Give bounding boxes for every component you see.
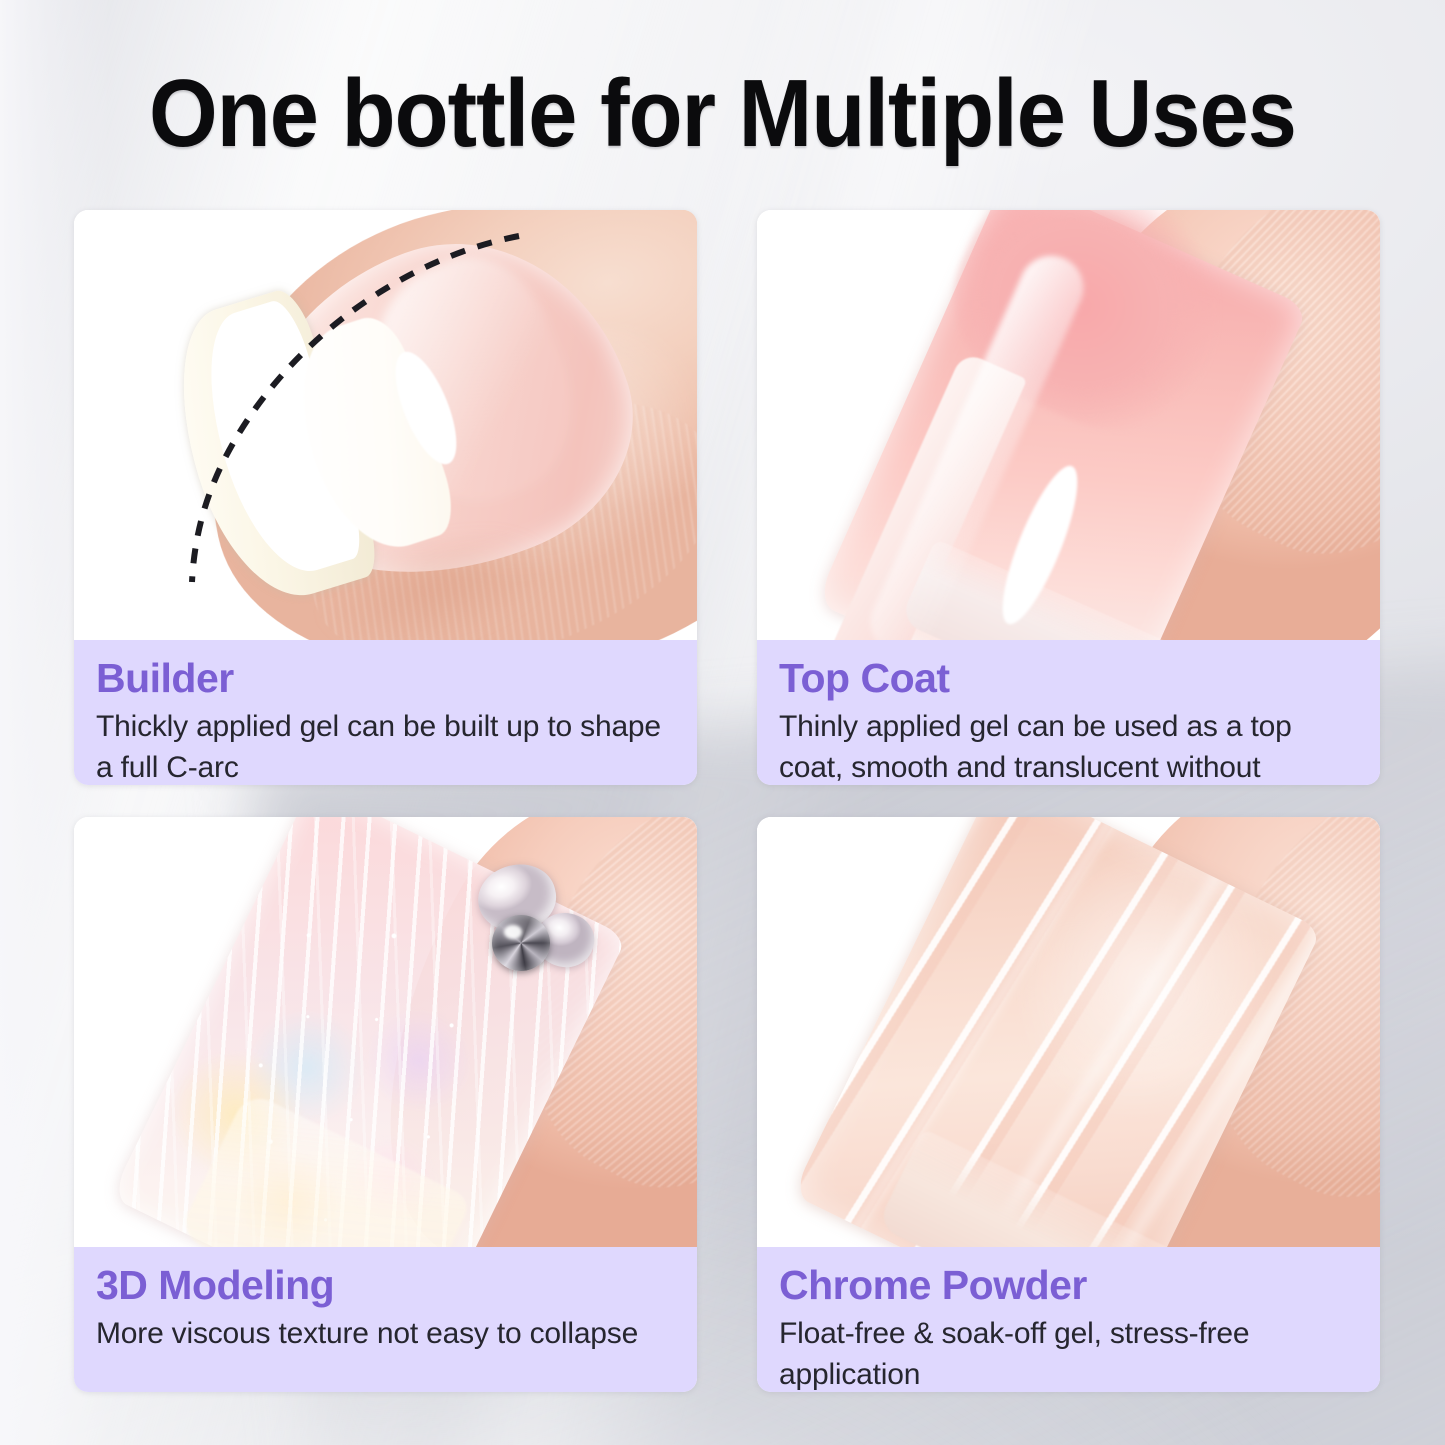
photo-chrome-powder: [757, 817, 1380, 1247]
caption-title: Top Coat: [779, 654, 1358, 702]
infographic-page: One bottle for Multiple Uses: [0, 0, 1445, 1445]
feature-card-top-coat: Top Coat Thinly applied gel can be used …: [757, 210, 1380, 785]
caption-description: Thickly applied gel can be built up to s…: [96, 706, 675, 785]
caption-description: Thinly applied gel can be used as a top …: [779, 706, 1358, 785]
feature-card-grid: Builder Thickly applied gel can be built…: [74, 210, 1380, 1392]
rhinestone-gem: [492, 915, 550, 971]
caption-chrome-powder: Chrome Powder Float-free & soak-off gel,…: [757, 1247, 1380, 1392]
caption-builder: Builder Thickly applied gel can be built…: [74, 640, 697, 785]
caption-description: More viscous texture not easy to collaps…: [96, 1313, 675, 1354]
caption-3d-modeling: 3D Modeling More viscous texture not eas…: [74, 1247, 697, 1392]
rhinestone-sparkle: [504, 925, 522, 939]
photo-top-coat: [757, 210, 1380, 640]
photo-3d-modeling: [74, 817, 697, 1247]
caption-top-coat: Top Coat Thinly applied gel can be used …: [757, 640, 1380, 785]
caption-title: 3D Modeling: [96, 1261, 675, 1309]
dashed-c-arc-guide: [74, 210, 697, 640]
caption-title: Chrome Powder: [779, 1261, 1358, 1309]
feature-card-builder: Builder Thickly applied gel can be built…: [74, 210, 697, 785]
caption-description: Float-free & soak-off gel, stress-free a…: [779, 1313, 1358, 1392]
photo-builder: [74, 210, 697, 640]
caption-title: Builder: [96, 654, 675, 702]
feature-card-chrome-powder: Chrome Powder Float-free & soak-off gel,…: [757, 817, 1380, 1392]
page-title: One bottle for Multiple Uses: [58, 62, 1387, 166]
feature-card-3d-modeling: 3D Modeling More viscous texture not eas…: [74, 817, 697, 1392]
